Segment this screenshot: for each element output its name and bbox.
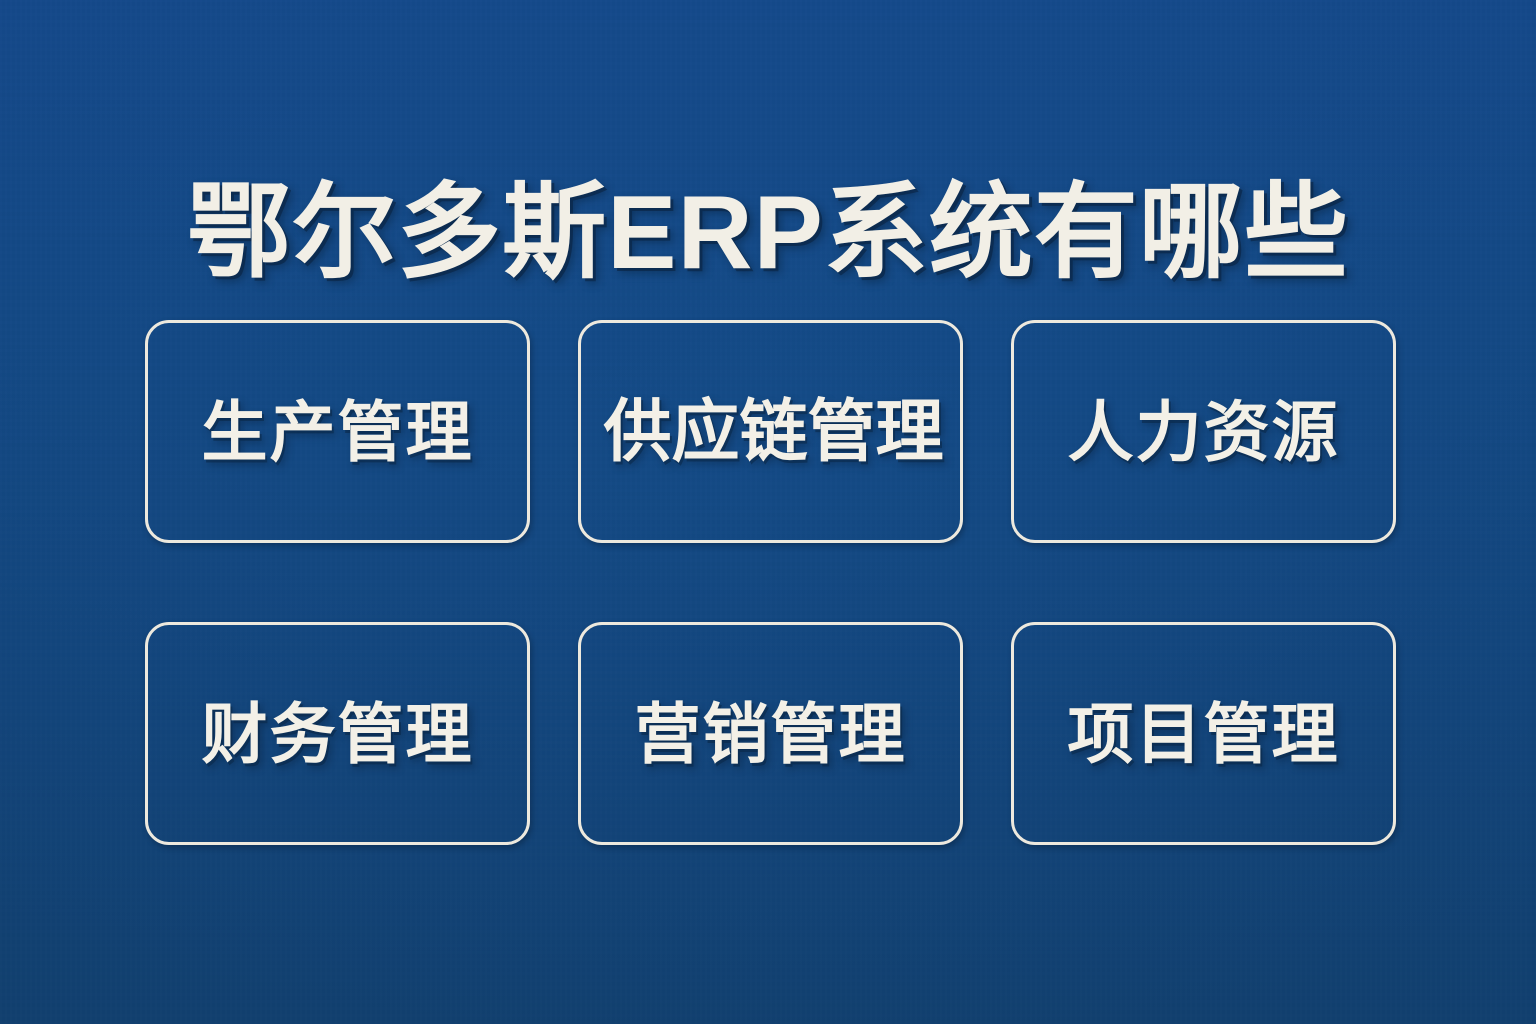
module-card-label: 项目管理: [1068, 701, 1340, 767]
module-card-marketing[interactable]: 营销管理: [578, 622, 963, 845]
module-card-grid: 生产管理 供应链管理 人力资源 财务管理 营销管理 项目管理: [145, 320, 1397, 845]
module-card-finance[interactable]: 财务管理: [145, 622, 530, 845]
module-card-human-resources[interactable]: 人力资源: [1011, 320, 1396, 543]
module-card-supply-chain[interactable]: 供应链管理: [578, 320, 963, 543]
page-title: 鄂尔多斯ERP系统有哪些: [0, 174, 1536, 293]
module-card-label: 生产管理: [202, 399, 474, 465]
module-card-label: 财务管理: [202, 701, 474, 767]
module-card-label: 人力资源: [1068, 399, 1340, 465]
module-card-project[interactable]: 项目管理: [1011, 622, 1396, 845]
module-card-production[interactable]: 生产管理: [145, 320, 530, 543]
module-card-label: 供应链管理: [603, 398, 943, 466]
module-card-label: 营销管理: [635, 701, 907, 767]
poster-canvas: 鄂尔多斯ERP系统有哪些 生产管理 供应链管理 人力资源 财务管理 营销管理 项…: [0, 0, 1536, 1024]
